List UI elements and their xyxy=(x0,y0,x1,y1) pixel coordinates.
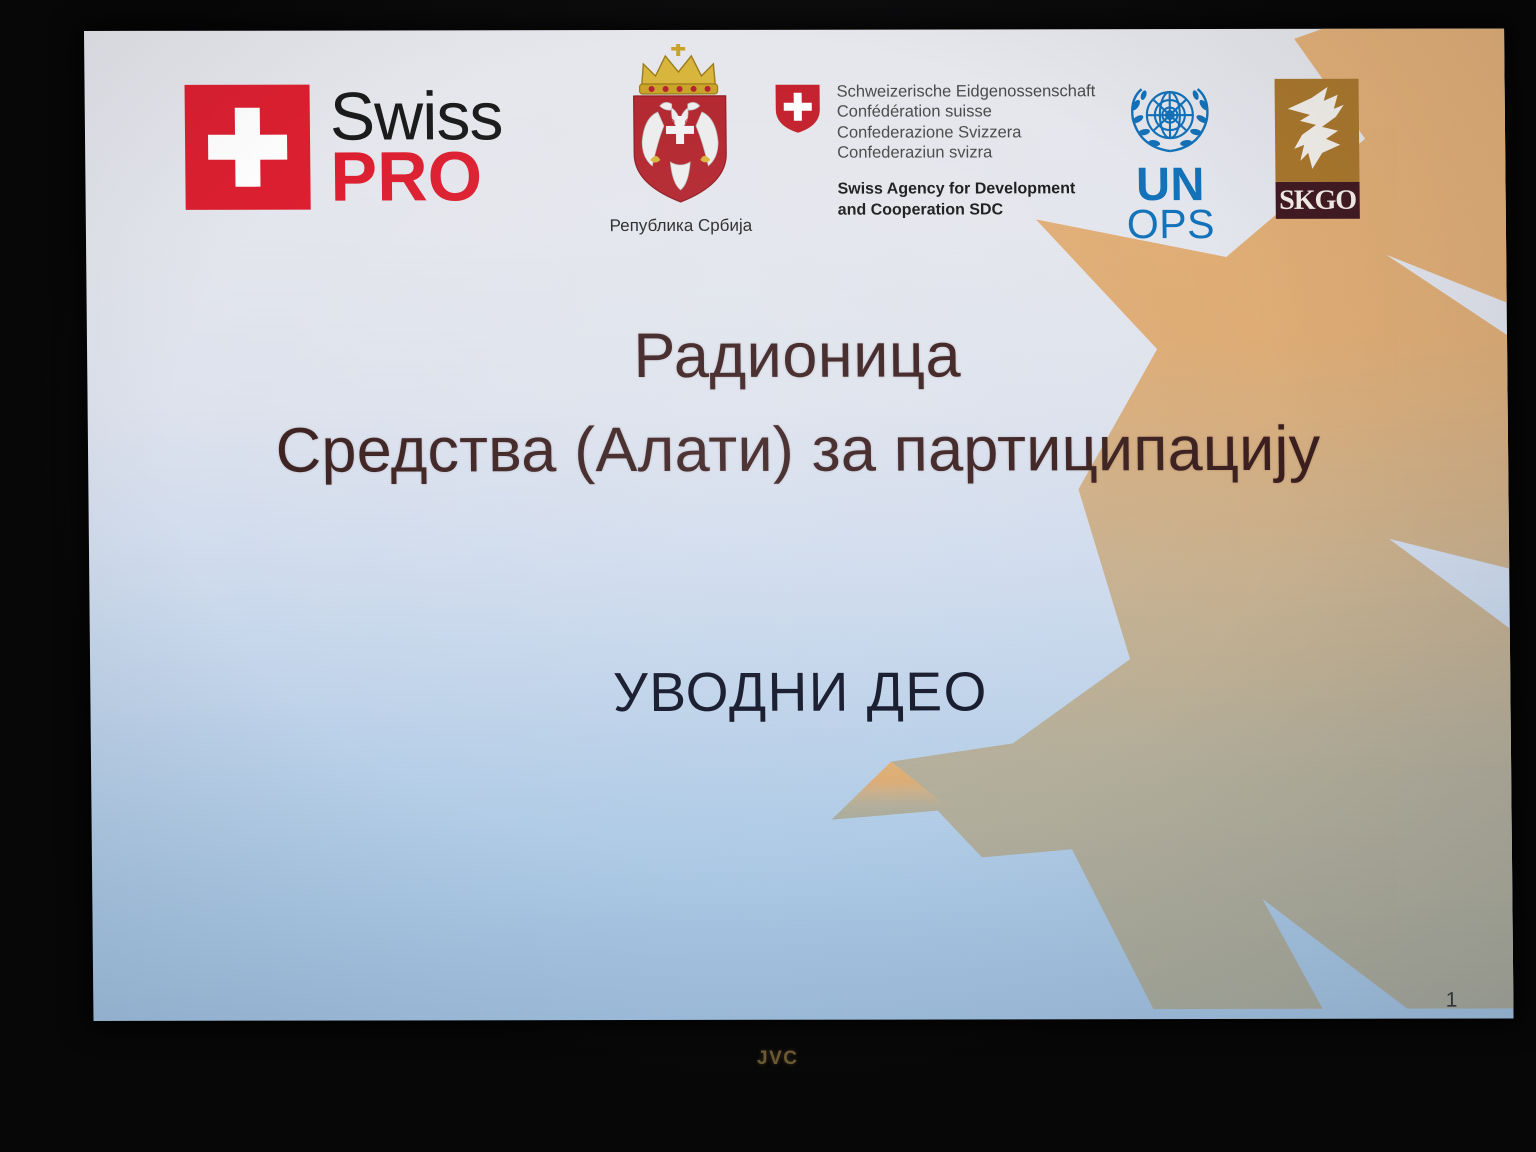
logo-swiss-pro: Swiss PRO xyxy=(185,84,504,210)
svg-text:C: C xyxy=(685,135,691,145)
sdc-language-rm: Confederaziun svizra xyxy=(837,143,1096,164)
slide-canvas: Swiss PRO xyxy=(84,29,1514,1021)
svg-text:C: C xyxy=(685,117,691,127)
logo-bar: Swiss PRO xyxy=(84,29,1506,261)
sdc-language-fr: Confédération suisse xyxy=(837,102,1096,123)
slide-title-line-1: Радионица xyxy=(87,319,1508,394)
serbian-coat-of-arms-icon: Ɔ C Ɔ C xyxy=(613,42,747,214)
sdc-agency-line-2: and Cooperation SDC xyxy=(838,200,1097,221)
skgo-label-text: SKGO xyxy=(1279,184,1356,216)
logo-swiss-sdc: Schweizerische Eidgenossenschaft Confédé… xyxy=(775,81,1097,221)
sdc-agency-line-1: Swiss Agency for Development xyxy=(837,179,1096,200)
skgo-label-box: SKGO xyxy=(1276,182,1360,219)
cross-horizontal-bar xyxy=(208,135,287,160)
swiss-pro-wordmark: Swiss PRO xyxy=(330,85,504,208)
logo-skgo: SKGO xyxy=(1275,79,1360,219)
serbia-caption: Република Србија xyxy=(591,216,771,236)
svg-text:Ɔ: Ɔ xyxy=(669,117,675,127)
sdc-language-de: Schweizerische Eidgenossenschaft xyxy=(837,81,1096,102)
swiss-shield-icon xyxy=(775,84,821,134)
sdc-text-block: Schweizerische Eidgenossenschaft Confédé… xyxy=(837,81,1097,221)
slide-subtitle-block: УВОДНИ ДЕО xyxy=(90,658,1511,724)
sdc-language-it: Confederazione Svizzera xyxy=(837,122,1096,143)
monitor-brand-label: JVC xyxy=(757,1048,798,1070)
swiss-pro-word-pro: PRO xyxy=(330,144,503,209)
unops-word-un: UN xyxy=(1107,163,1233,206)
slide-page-number: 1 xyxy=(1446,989,1458,1013)
unops-word-ops: OPS xyxy=(1108,205,1234,244)
un-emblem-icon xyxy=(1117,77,1222,159)
swiss-cross-icon xyxy=(185,85,311,210)
slide-title-block: Радионица Средства (Алати) за партиципац… xyxy=(87,319,1509,488)
slide-subtitle: УВОДНИ ДЕО xyxy=(90,658,1511,724)
logo-republic-of-serbia: Ɔ C Ɔ C Република Србија xyxy=(589,42,771,236)
skgo-gold-box xyxy=(1275,79,1360,182)
photo-stage: Swiss PRO xyxy=(0,0,1536,1152)
logo-unops: UN OPS xyxy=(1106,77,1234,244)
slide-title-line-2: Средства (Алати) за партиципацију xyxy=(88,413,1509,488)
skgo-bird-icon xyxy=(1282,83,1353,178)
svg-text:Ɔ: Ɔ xyxy=(669,135,675,145)
sdc-agency-name: Swiss Agency for Development and Coopera… xyxy=(837,179,1096,221)
projected-slide: Swiss PRO xyxy=(84,29,1514,1021)
